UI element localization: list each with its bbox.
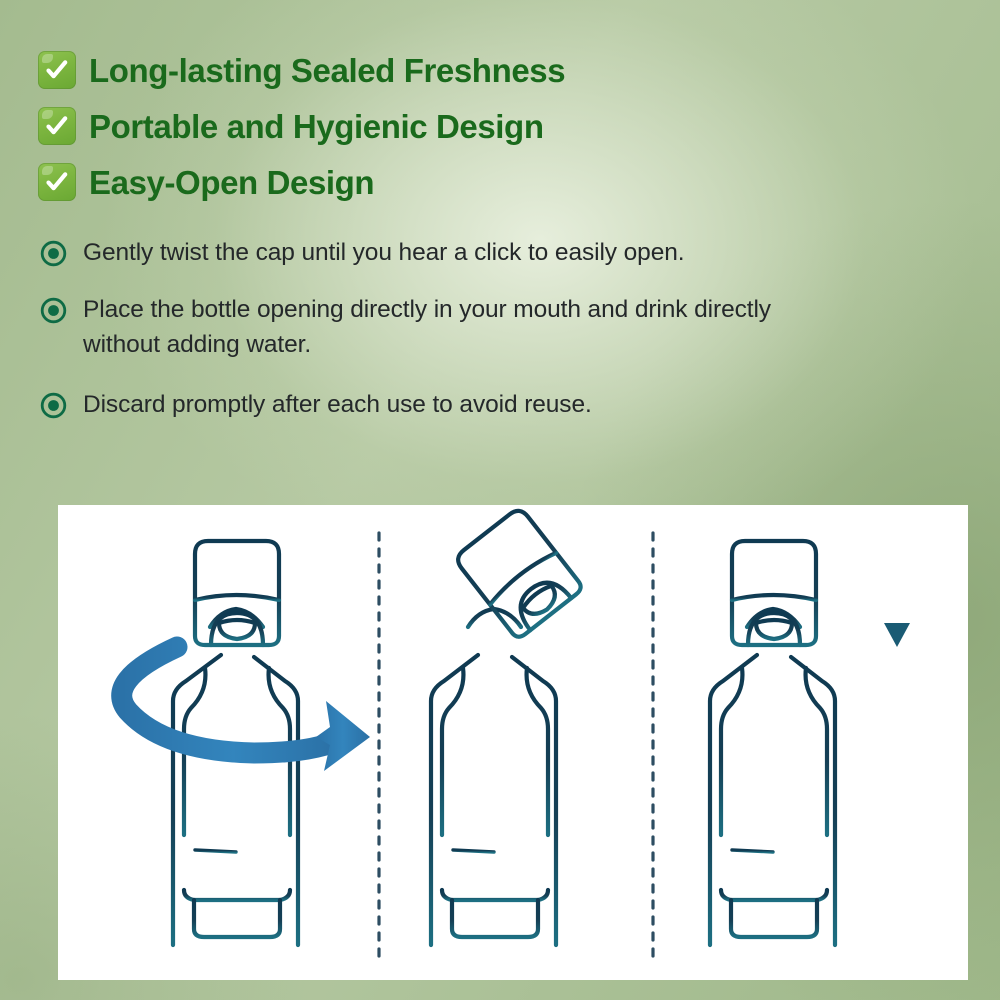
instruction-item: Discard promptly after each use to avoid…	[40, 388, 830, 423]
instruction-text: Place the bottle opening directly in you…	[83, 293, 808, 363]
feature-list: Long-lasting Sealed Freshness Portable a…	[38, 42, 858, 210]
radio-dot-icon	[40, 297, 67, 324]
feature-item: Long-lasting Sealed Freshness	[38, 42, 858, 98]
feature-label: Easy-Open Design	[89, 166, 374, 199]
down-arrow-icon	[884, 557, 910, 647]
rotate-arrow-icon	[122, 647, 370, 771]
instruction-item: Gently twist the cap until you hear a cl…	[40, 236, 830, 271]
instruction-list: Gently twist the cap until you hear a cl…	[40, 236, 830, 445]
instruction-item: Place the bottle opening directly in you…	[40, 293, 830, 363]
feature-label: Portable and Hygienic Design	[89, 110, 544, 143]
radio-dot-icon	[40, 240, 67, 267]
illustration-panel	[58, 505, 968, 980]
instruction-text: Discard promptly after each use to avoid…	[83, 388, 592, 423]
feature-item: Portable and Hygienic Design	[38, 98, 858, 154]
bottle-with-down-arrow-icon	[710, 541, 835, 945]
instruction-text: Gently twist the cap until you hear a cl…	[83, 236, 684, 271]
feature-item: Easy-Open Design	[38, 154, 858, 210]
check-square-icon	[38, 163, 76, 201]
check-square-icon	[38, 107, 76, 145]
bottle-with-tilted-cap-icon	[431, 609, 556, 945]
radio-dot-icon	[40, 392, 67, 419]
check-square-icon	[38, 51, 76, 89]
feature-label: Long-lasting Sealed Freshness	[89, 54, 565, 87]
infographic-page: Long-lasting Sealed Freshness Portable a…	[0, 0, 1000, 1000]
